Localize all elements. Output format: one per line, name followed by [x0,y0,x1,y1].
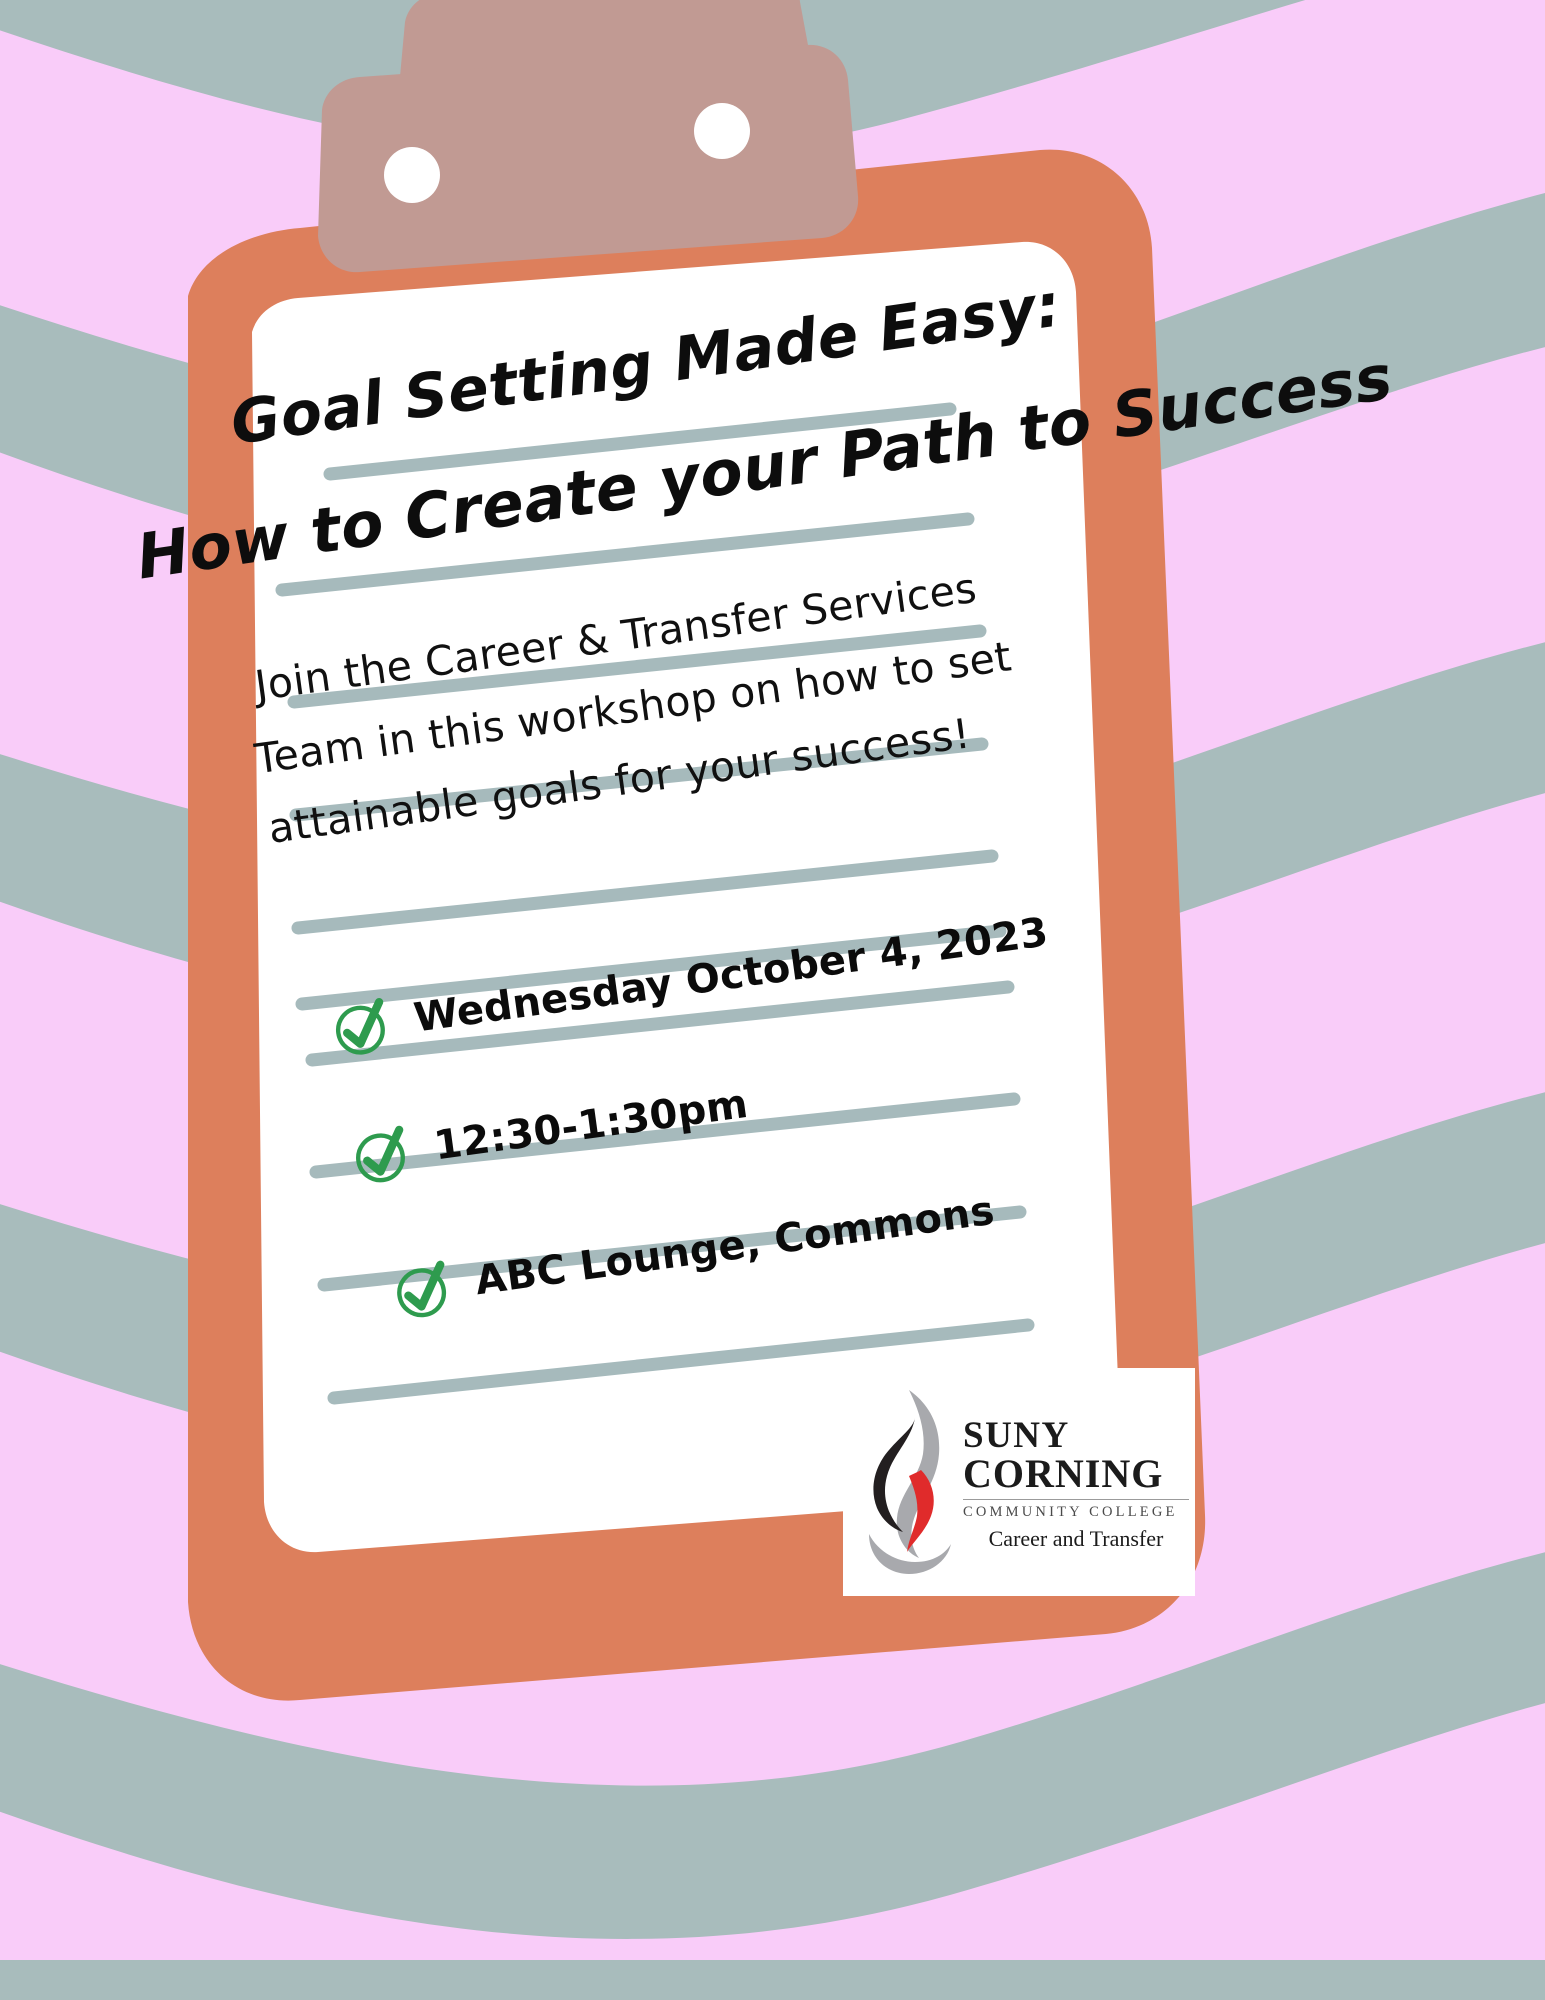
clip-hole-left [384,147,440,203]
clip-hole-right [694,103,750,159]
logo-community-college-text: COMMUNITY COLLEGE [963,1504,1178,1521]
detail-row-location: ABC Lounge, Commons [388,1180,998,1324]
suny-corning-logo-card: SUNY CORNING COMMUNITY COLLEGE Career an… [843,1368,1195,1596]
logo-wordmark: SUNY CORNING COMMUNITY COLLEGE Career an… [963,1412,1189,1553]
detail-row-date: Wednesday October 4, 2023 [327,901,1052,1061]
check-circle-icon [347,1119,417,1189]
flame-torch-icon [853,1382,957,1582]
logo-department-text: Career and Transfer [989,1526,1164,1552]
check-circle-icon [388,1254,458,1324]
detail-label-location: ABC Lounge, Commons [472,1188,997,1305]
logo-divider [963,1499,1189,1501]
check-circle-icon [327,991,397,1061]
logo-corning-text: CORNING [963,1454,1163,1494]
detail-label-date: Wednesday October 4, 2023 [411,909,1051,1041]
logo-suny-text: SUNY [963,1418,1070,1454]
detail-label-time: 12:30-1:30pm [431,1081,750,1169]
detail-row-time: 12:30-1:30pm [347,1073,752,1189]
